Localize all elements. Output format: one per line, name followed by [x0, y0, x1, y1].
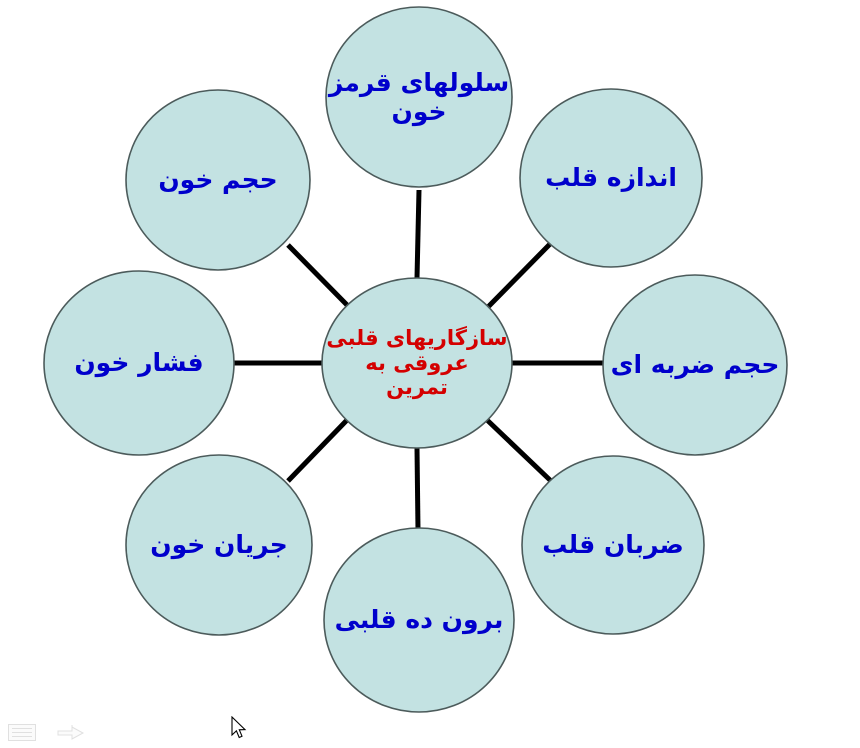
center-node[interactable] — [322, 278, 512, 448]
connector-center-to-blood-volume — [288, 245, 349, 307]
slideshow-next-icon[interactable] — [56, 724, 86, 742]
connector-center-to-heart-size — [487, 243, 551, 308]
blood-volume-node[interactable] — [126, 90, 310, 270]
radial-diagram — [0, 0, 860, 748]
node-circles-group — [44, 7, 787, 712]
cardiac-output-node[interactable] — [324, 528, 514, 712]
blood-flow-node[interactable] — [126, 455, 312, 635]
slideshow-nav-controls[interactable] — [8, 724, 86, 742]
connector-center-to-red-blood-cells — [417, 190, 419, 278]
connector-center-to-heart-rate — [486, 419, 551, 481]
heart-rate-node[interactable] — [522, 456, 704, 634]
presentation-slide: سلولهای قرمز خوناندازه قلبحجم ضربه ایضرب… — [0, 0, 860, 748]
connector-center-to-cardiac-output — [417, 448, 418, 530]
connector-center-to-blood-flow — [288, 419, 348, 481]
blood-pressure-node[interactable] — [44, 271, 234, 455]
heart-size-node[interactable] — [520, 89, 702, 267]
red-blood-cells-node[interactable] — [326, 7, 512, 187]
slideshow-menu-icon[interactable] — [8, 724, 38, 742]
stroke-volume-node[interactable] — [603, 275, 787, 455]
